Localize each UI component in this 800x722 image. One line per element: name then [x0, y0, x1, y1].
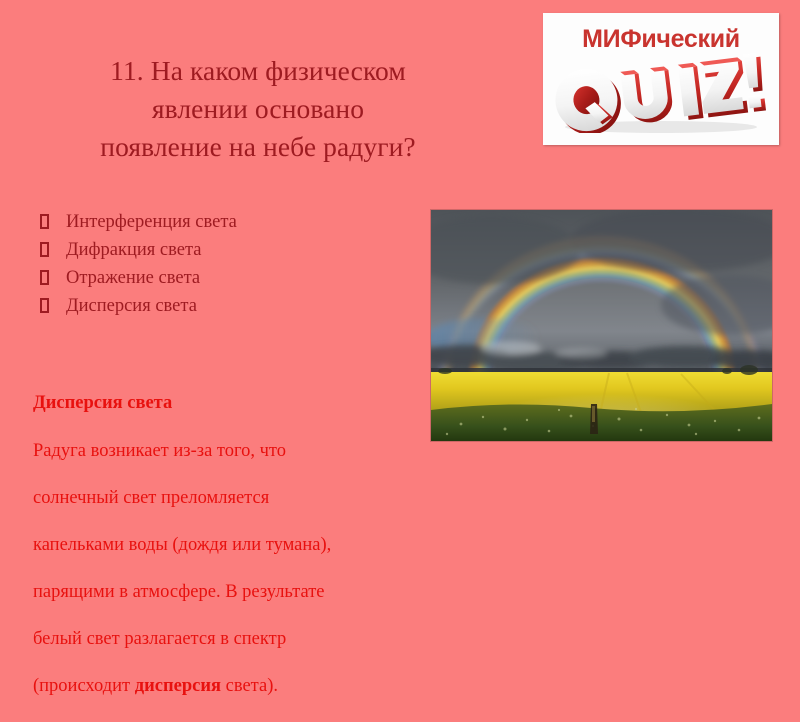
answer-body-line-final: (происходит дисперсия света).	[33, 675, 423, 699]
answer-option-label: Дисперсия света	[66, 292, 197, 320]
rainbow-photo	[431, 210, 772, 441]
answer-option-label: Дифракция света	[66, 236, 201, 264]
answer-body-emphasis: дисперсия	[135, 676, 221, 696]
answer-body-text: света).	[221, 676, 278, 696]
answer-body: Радуга возникает из-за того, что солнечн…	[33, 417, 423, 722]
quiz-slide: 11. На каком физическом явлении основано…	[0, 0, 800, 600]
answer-option[interactable]: Дифракция света	[40, 236, 420, 264]
bullet-box-icon	[40, 214, 49, 229]
answer-body-line: парящими в атмосфере. В результате	[33, 581, 423, 605]
bullet-box-icon	[40, 242, 49, 257]
answer-option-label: Отражение света	[66, 264, 200, 292]
answer-option[interactable]: Дисперсия света	[40, 292, 420, 320]
answer-options-list: Интерференция света Дифракция света Отра…	[40, 208, 420, 320]
question-title: 11. На каком физическом явлении основано…	[24, 52, 492, 166]
quiz-logo: МИФический	[543, 13, 779, 145]
answer-heading: Дисперсия света	[33, 392, 423, 416]
answer-body-text: (происходит	[33, 676, 135, 696]
answer-option-label: Интерференция света	[66, 208, 237, 236]
bullet-box-icon	[40, 270, 49, 285]
answer-option[interactable]: Интерференция света	[40, 208, 420, 236]
quiz-logo-subtitle: МИФический	[543, 25, 779, 54]
answer-body-line: капельками воды (дождя или тумана),	[33, 534, 423, 558]
answer-body-line: солнечный свет преломляется	[33, 487, 423, 511]
answer-option[interactable]: Отражение света	[40, 264, 420, 292]
answer-explanation: Дисперсия света Радуга возникает из-за т…	[33, 392, 423, 722]
bullet-box-icon	[40, 298, 49, 313]
answer-body-line: Радуга возникает из-за того, что	[33, 440, 423, 464]
quiz-logo-wordmark	[553, 51, 769, 133]
answer-body-line: белый свет разлагается в спектр	[33, 628, 423, 652]
